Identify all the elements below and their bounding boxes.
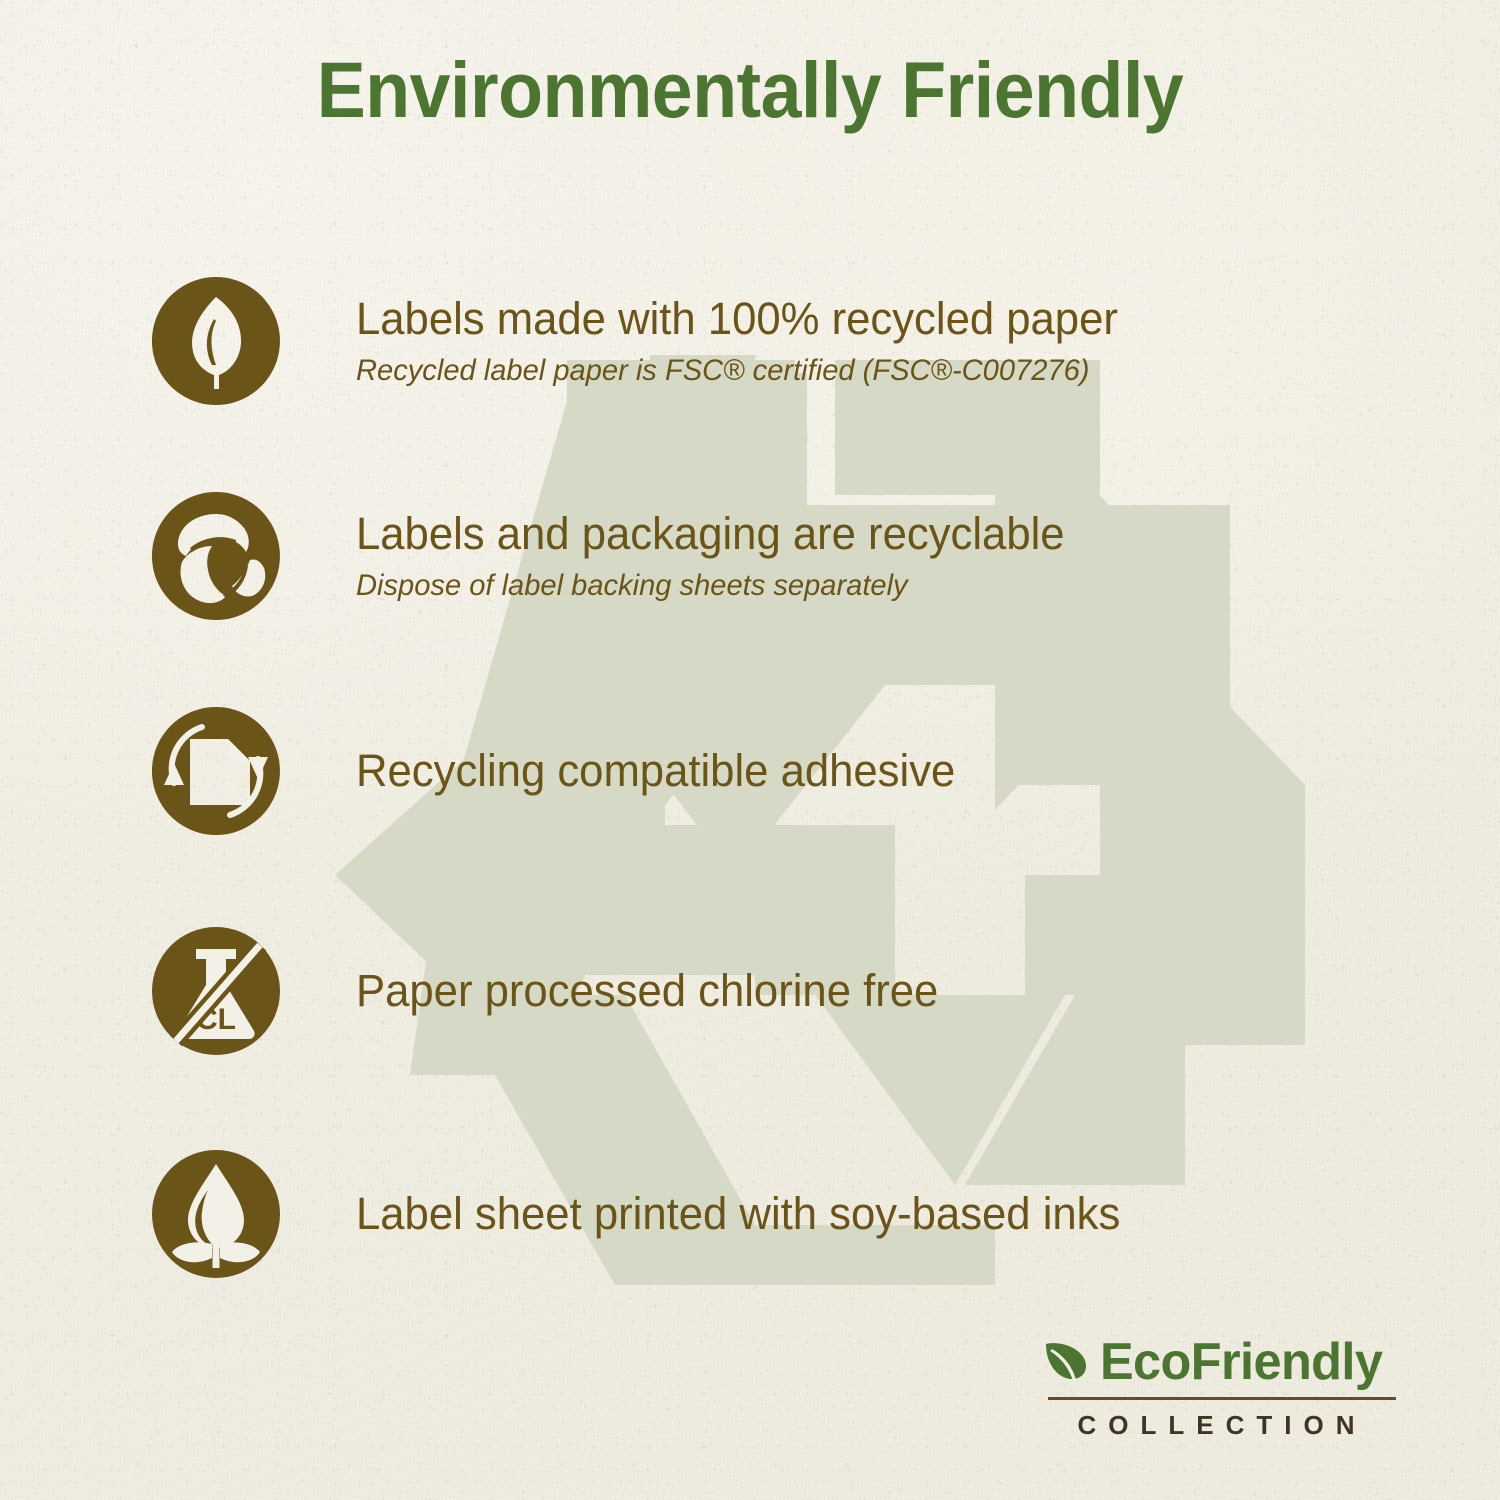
feature-subline: Recycled label paper is FSC® certified (… xyxy=(356,354,1118,387)
document-recycle-loop-icon xyxy=(150,705,282,837)
feature-row: Recycling compatible adhesive xyxy=(150,705,1410,837)
feature-text: Labels and packaging are recyclable Disp… xyxy=(356,510,1086,603)
infographic-page: Environmentally Friendly Labels made wit… xyxy=(0,0,1500,1500)
logo-divider xyxy=(1048,1397,1396,1400)
feature-headline: Recycling compatible adhesive xyxy=(356,747,955,795)
logo-subtitle: COLLECTION xyxy=(1048,1412,1396,1438)
feature-headline: Labels and packaging are recyclable xyxy=(356,510,1065,558)
feature-text: Paper processed chlorine free xyxy=(356,967,956,1015)
three-leaf-recycle-circle-icon xyxy=(150,490,282,622)
feature-row: Labels and packaging are recyclable Disp… xyxy=(150,490,1410,622)
feature-row: Label sheet printed with soy-based inks xyxy=(150,1148,1410,1280)
feature-text: Label sheet printed with soy-based inks xyxy=(356,1190,1144,1238)
feature-headline: Paper processed chlorine free xyxy=(356,967,938,1015)
feature-headline: Labels made with 100% recycled paper xyxy=(356,295,1118,343)
feature-subline: Dispose of label backing sheets separate… xyxy=(356,569,1065,602)
logo-wordmark: EcoFriendly xyxy=(1100,1336,1382,1388)
feature-text: Labels made with 100% recycled paper Rec… xyxy=(356,295,1141,388)
feature-row: Labels made with 100% recycled paper Rec… xyxy=(150,275,1410,407)
ecofriendly-collection-logo: EcoFriendly COLLECTION xyxy=(1042,1336,1414,1438)
logo-top-row: EcoFriendly xyxy=(1042,1336,1414,1388)
soy-ink-droplet-leaf-icon xyxy=(150,1148,282,1280)
no-chlorine-flask-icon: CL xyxy=(150,925,282,1057)
feature-text: Recycling compatible adhesive xyxy=(356,747,974,795)
page-title: Environmentally Friendly xyxy=(53,44,1448,136)
leaf-in-circle-icon xyxy=(150,275,282,407)
feature-row: CL Paper processed chlorine free xyxy=(150,925,1410,1057)
leaf-icon xyxy=(1042,1336,1094,1388)
feature-headline: Label sheet printed with soy-based inks xyxy=(356,1190,1120,1238)
